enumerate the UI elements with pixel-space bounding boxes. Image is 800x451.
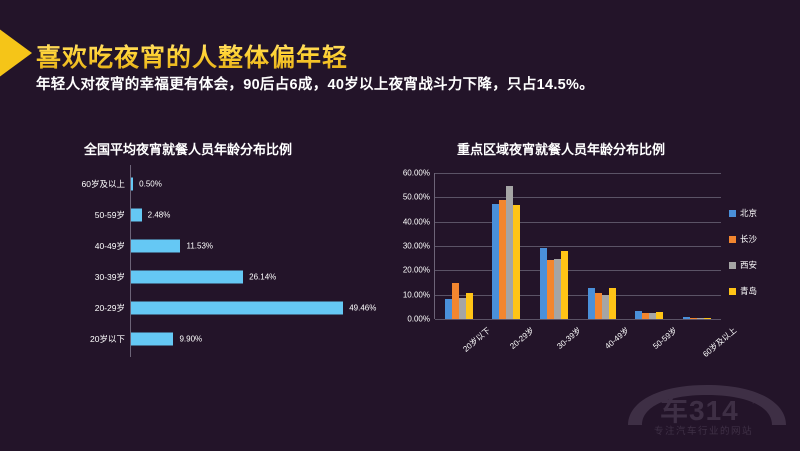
bar-category-label: 20-29岁 — [95, 302, 125, 314]
bar-fill — [131, 178, 133, 191]
x-axis-tick-label: 50-59岁 — [650, 325, 679, 352]
bar-fill — [131, 333, 173, 346]
bar-row: 20岁以下9.90% — [18, 326, 390, 352]
column-bar — [547, 260, 554, 319]
column-bar — [595, 293, 602, 319]
legend-item[interactable]: 青岛 — [729, 285, 757, 297]
column-bar — [704, 318, 711, 320]
x-axis-tick-label: 30-39岁 — [555, 325, 584, 352]
bar-category-label: 20岁以下 — [90, 333, 125, 345]
legend-label: 青岛 — [740, 285, 757, 297]
legend-swatch-icon — [729, 236, 736, 243]
bar-row: 40-49岁11.53% — [18, 233, 390, 259]
bar-fill — [131, 302, 343, 315]
column-bar — [609, 288, 616, 319]
column-bar — [588, 288, 595, 319]
column-bar — [642, 313, 649, 319]
bar-value-label: 11.53% — [186, 242, 213, 251]
column-bar — [683, 317, 690, 319]
column-bar — [445, 299, 452, 319]
column-bar — [635, 311, 642, 319]
bar-row: 60岁及以上0.50% — [18, 171, 390, 197]
column-group — [578, 173, 626, 319]
watermark: 车314 网 专注汽车行业的网站 — [622, 383, 792, 447]
y-axis-tick-label: 50.00% — [403, 193, 430, 202]
x-axis-tick-label: 20-29岁 — [507, 325, 536, 352]
column-bar — [540, 248, 547, 319]
x-axis-tick-label: 20岁以下 — [461, 325, 493, 355]
legend-label: 北京 — [740, 207, 757, 219]
chart-key-region-age-distribution: 重点区域夜宵就餐人员年龄分布比例 60.00%50.00%40.00%30.00… — [386, 135, 800, 380]
legend-item[interactable]: 北京 — [729, 207, 757, 219]
column-group — [673, 173, 721, 319]
column-group — [435, 173, 483, 319]
chart-title-left: 全国平均夜宵就餐人员年龄分布比例 — [18, 139, 358, 158]
watermark-tagline: 专注汽车行业的网站 — [654, 423, 753, 437]
bar-row: 20-29岁49.46% — [18, 295, 390, 321]
chart-title-right: 重点区域夜宵就餐人员年龄分布比例 — [396, 139, 726, 158]
column-bar — [506, 186, 513, 319]
legend-swatch-icon — [729, 288, 736, 295]
column-bar — [656, 312, 663, 319]
column-bar — [561, 251, 568, 319]
column-bar — [513, 205, 520, 319]
gridline — [435, 319, 721, 320]
legend-item[interactable]: 西安 — [729, 259, 757, 271]
grouped-column-plot: 60.00%50.00%40.00%30.00%20.00%10.00%0.00… — [434, 173, 720, 319]
legend-swatch-icon — [729, 262, 736, 269]
y-axis-tick-label: 20.00% — [403, 266, 430, 275]
bar-category-label: 60岁及以上 — [82, 178, 125, 190]
y-axis-tick-label: 40.00% — [403, 217, 430, 226]
column-bar — [690, 318, 697, 320]
y-axis-tick-label: 30.00% — [403, 242, 430, 251]
chevron-right-icon — [0, 28, 32, 78]
column-bar — [452, 283, 459, 319]
column-group — [530, 173, 578, 319]
y-axis-tick-label: 0.00% — [407, 315, 430, 324]
bar-value-label: 26.14% — [249, 273, 276, 282]
bar-value-label: 9.90% — [179, 335, 202, 344]
page-title: 喜欢吃夜宵的人整体偏年轻 — [36, 38, 348, 74]
bar-fill — [131, 271, 243, 284]
column-bar — [697, 318, 704, 320]
bar-row: 50-59岁2.48% — [18, 202, 390, 228]
legend-item[interactable]: 长沙 — [729, 233, 757, 245]
bar-fill — [131, 209, 142, 222]
chart-national-age-distribution: 全国平均夜宵就餐人员年龄分布比例 60岁及以上0.50%50-59岁2.48%4… — [18, 135, 390, 370]
bar-category-label: 40-49岁 — [95, 240, 125, 252]
horizontal-bar-plot: 60岁及以上0.50%50-59岁2.48%40-49岁11.53%30-39岁… — [18, 165, 390, 365]
bar-fill — [131, 240, 180, 253]
column-bar — [466, 293, 473, 319]
bar-value-label: 2.48% — [148, 211, 171, 220]
y-axis-tick-label: 10.00% — [403, 290, 430, 299]
watermark-superscript: 网 — [750, 395, 763, 404]
column-bar — [554, 259, 561, 319]
y-axis-tick-label: 60.00% — [403, 169, 430, 178]
column-bar — [459, 298, 466, 319]
bar-category-label: 50-59岁 — [95, 209, 125, 221]
column-bar — [602, 295, 609, 319]
bar-category-label: 30-39岁 — [95, 271, 125, 283]
page-header: 喜欢吃夜宵的人整体偏年轻 年轻人对夜宵的幸福更有体会，90后占6成，40岁以上夜… — [0, 18, 800, 98]
column-bar — [649, 313, 656, 319]
chart-legend: 北京长沙西安青岛 — [729, 207, 757, 311]
column-group — [626, 173, 674, 319]
bar-row: 30-39岁26.14% — [18, 264, 390, 290]
x-axis-tick-label: 60岁及以上 — [701, 325, 739, 360]
column-bar — [492, 204, 499, 319]
legend-label: 西安 — [740, 259, 757, 271]
bar-value-label: 49.46% — [349, 304, 376, 313]
bar-value-label: 0.50% — [139, 180, 162, 189]
page-subtitle: 年轻人对夜宵的幸福更有体会，90后占6成，40岁以上夜宵战斗力下降，只占14.5… — [36, 73, 594, 94]
legend-label: 长沙 — [740, 233, 757, 245]
legend-swatch-icon — [729, 210, 736, 217]
x-axis-tick-label: 40-49岁 — [602, 325, 631, 352]
column-bar — [499, 200, 506, 319]
column-group — [483, 173, 531, 319]
